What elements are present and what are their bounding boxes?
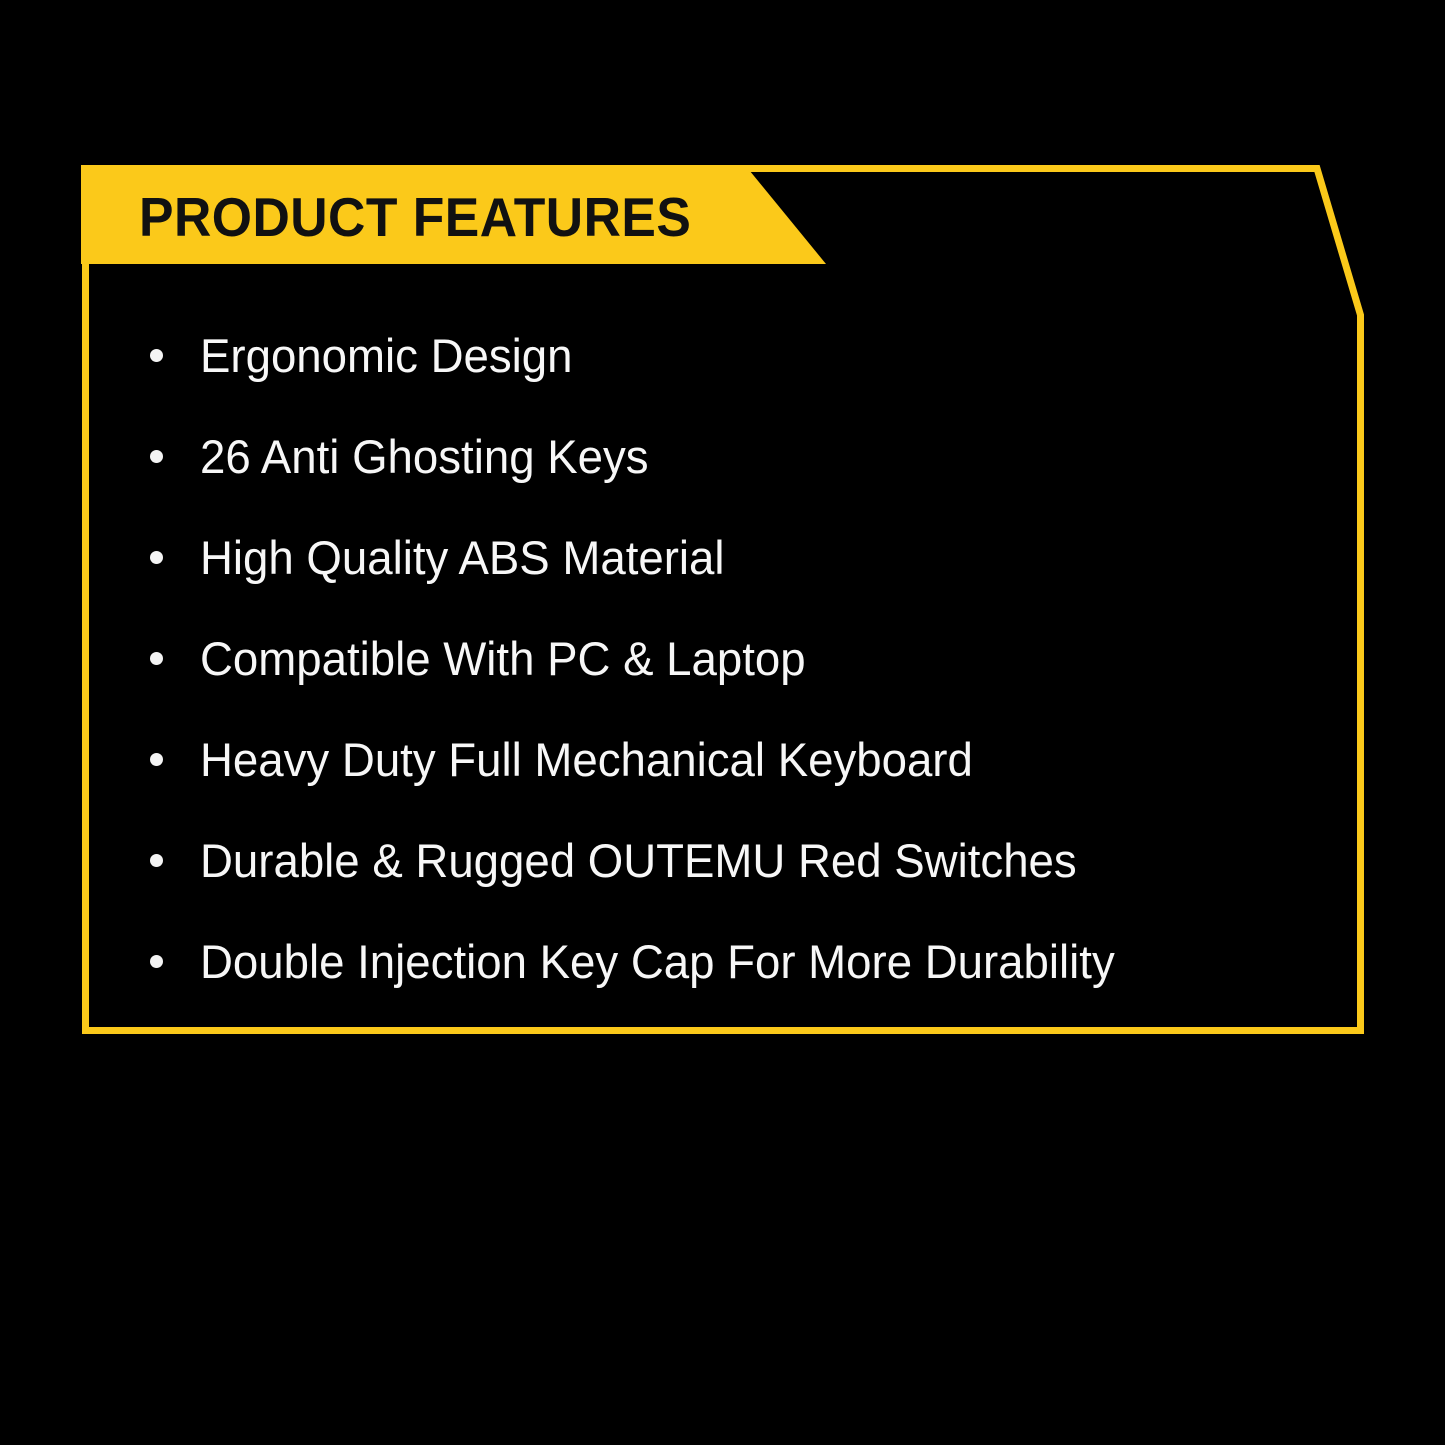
bullet-dot-icon bbox=[150, 652, 163, 665]
list-item-label: Durable & Rugged OUTEMU Red Switches bbox=[200, 810, 1077, 911]
list-item: Double Injection Key Cap For More Durabi… bbox=[145, 911, 1305, 1012]
bullet-dot-icon bbox=[150, 450, 163, 463]
list-item-label: High Quality ABS Material bbox=[200, 507, 725, 608]
list-item-label: Heavy Duty Full Mechanical Keyboard bbox=[200, 709, 973, 810]
bullet-dot-icon bbox=[150, 753, 163, 766]
list-item-label: Ergonomic Design bbox=[200, 305, 572, 406]
list-item: Compatible With PC & Laptop bbox=[145, 608, 1305, 709]
list-item: 26 Anti Ghosting Keys bbox=[145, 406, 1305, 507]
list-item: Durable & Rugged OUTEMU Red Switches bbox=[145, 810, 1305, 911]
bullet-dot-icon bbox=[150, 551, 163, 564]
list-item: Heavy Duty Full Mechanical Keyboard bbox=[145, 709, 1305, 810]
list-item-label: Double Injection Key Cap For More Durabi… bbox=[200, 911, 1115, 1012]
bullet-dot-icon bbox=[150, 854, 163, 867]
list-item-label: Compatible With PC & Laptop bbox=[200, 608, 806, 709]
list-item-label: 26 Anti Ghosting Keys bbox=[200, 406, 649, 507]
bullet-dot-icon bbox=[150, 349, 163, 362]
list-item: Ergonomic Design bbox=[145, 305, 1305, 406]
features-list: Ergonomic Design 26 Anti Ghosting Keys H… bbox=[145, 305, 1305, 1012]
list-item: High Quality ABS Material bbox=[145, 507, 1305, 608]
page-title: PRODUCT FEATURES bbox=[139, 186, 691, 248]
product-features-banner: PRODUCT FEATURES Ergonomic Design 26 Ant… bbox=[0, 0, 1445, 1445]
bullet-dot-icon bbox=[150, 955, 163, 968]
